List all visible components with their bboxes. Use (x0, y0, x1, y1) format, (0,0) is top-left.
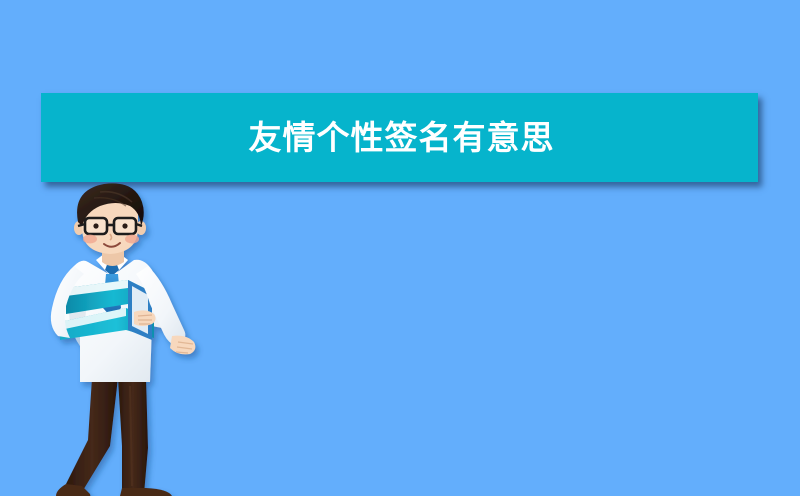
shoes (56, 484, 172, 496)
left-eye (93, 223, 98, 228)
right-shoe (120, 488, 172, 496)
left-cheek (83, 235, 97, 244)
legs (66, 378, 148, 494)
head (74, 183, 146, 254)
businessman-figure (22, 196, 212, 496)
right-eye (122, 223, 127, 228)
right-cheek (125, 235, 139, 244)
page-title: 友情个性签名有意思 (249, 121, 555, 154)
walking-businessman-illustration (22, 196, 212, 496)
figure-group (51, 183, 195, 496)
right-hand (170, 336, 195, 355)
title-banner: 友情个性签名有意思 (41, 93, 758, 182)
left-leg (66, 378, 118, 492)
right-leg (118, 378, 148, 494)
slide-canvas: 友情个性签名有意思 (0, 0, 800, 496)
